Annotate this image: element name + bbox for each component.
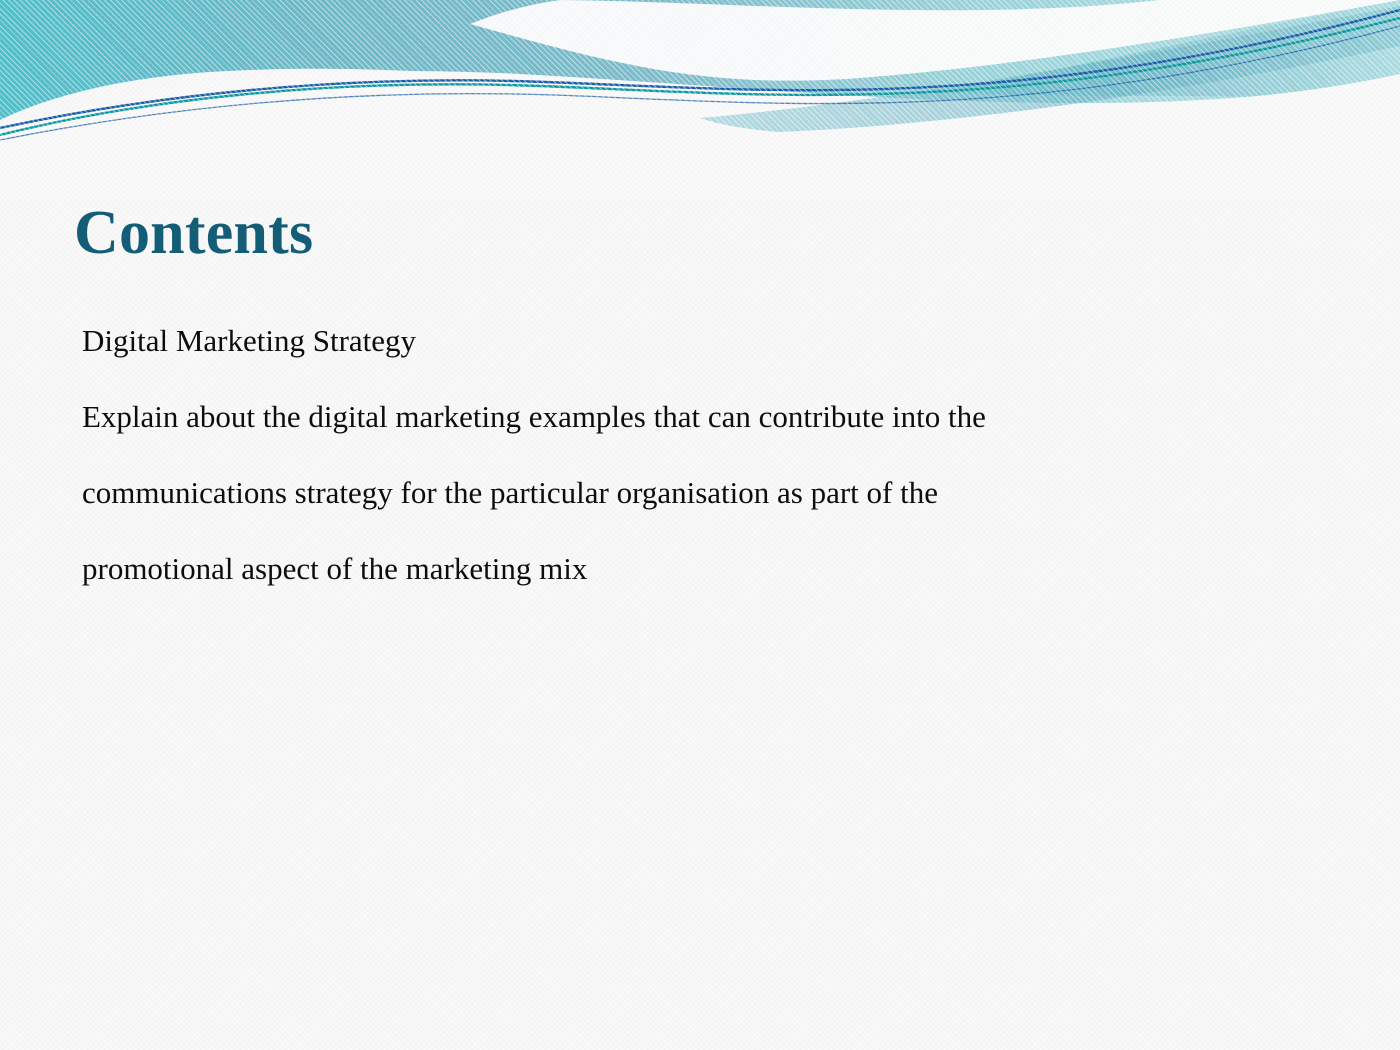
page-title: Contents (74, 199, 313, 268)
presentation-slide: Contents Digital Marketing Strategy Expl… (0, 0, 1400, 1050)
body-line: communications strategy for the particul… (82, 477, 1282, 508)
body-line: Digital Marketing Strategy (82, 325, 1282, 356)
body-line: Explain about the digital marketing exam… (82, 401, 1282, 432)
slide-content: Contents Digital Marketing Strategy Expl… (0, 0, 1400, 1050)
body-line: promotional aspect of the marketing mix (82, 553, 1282, 584)
body-text-block: Digital Marketing Strategy Explain about… (82, 325, 1282, 584)
